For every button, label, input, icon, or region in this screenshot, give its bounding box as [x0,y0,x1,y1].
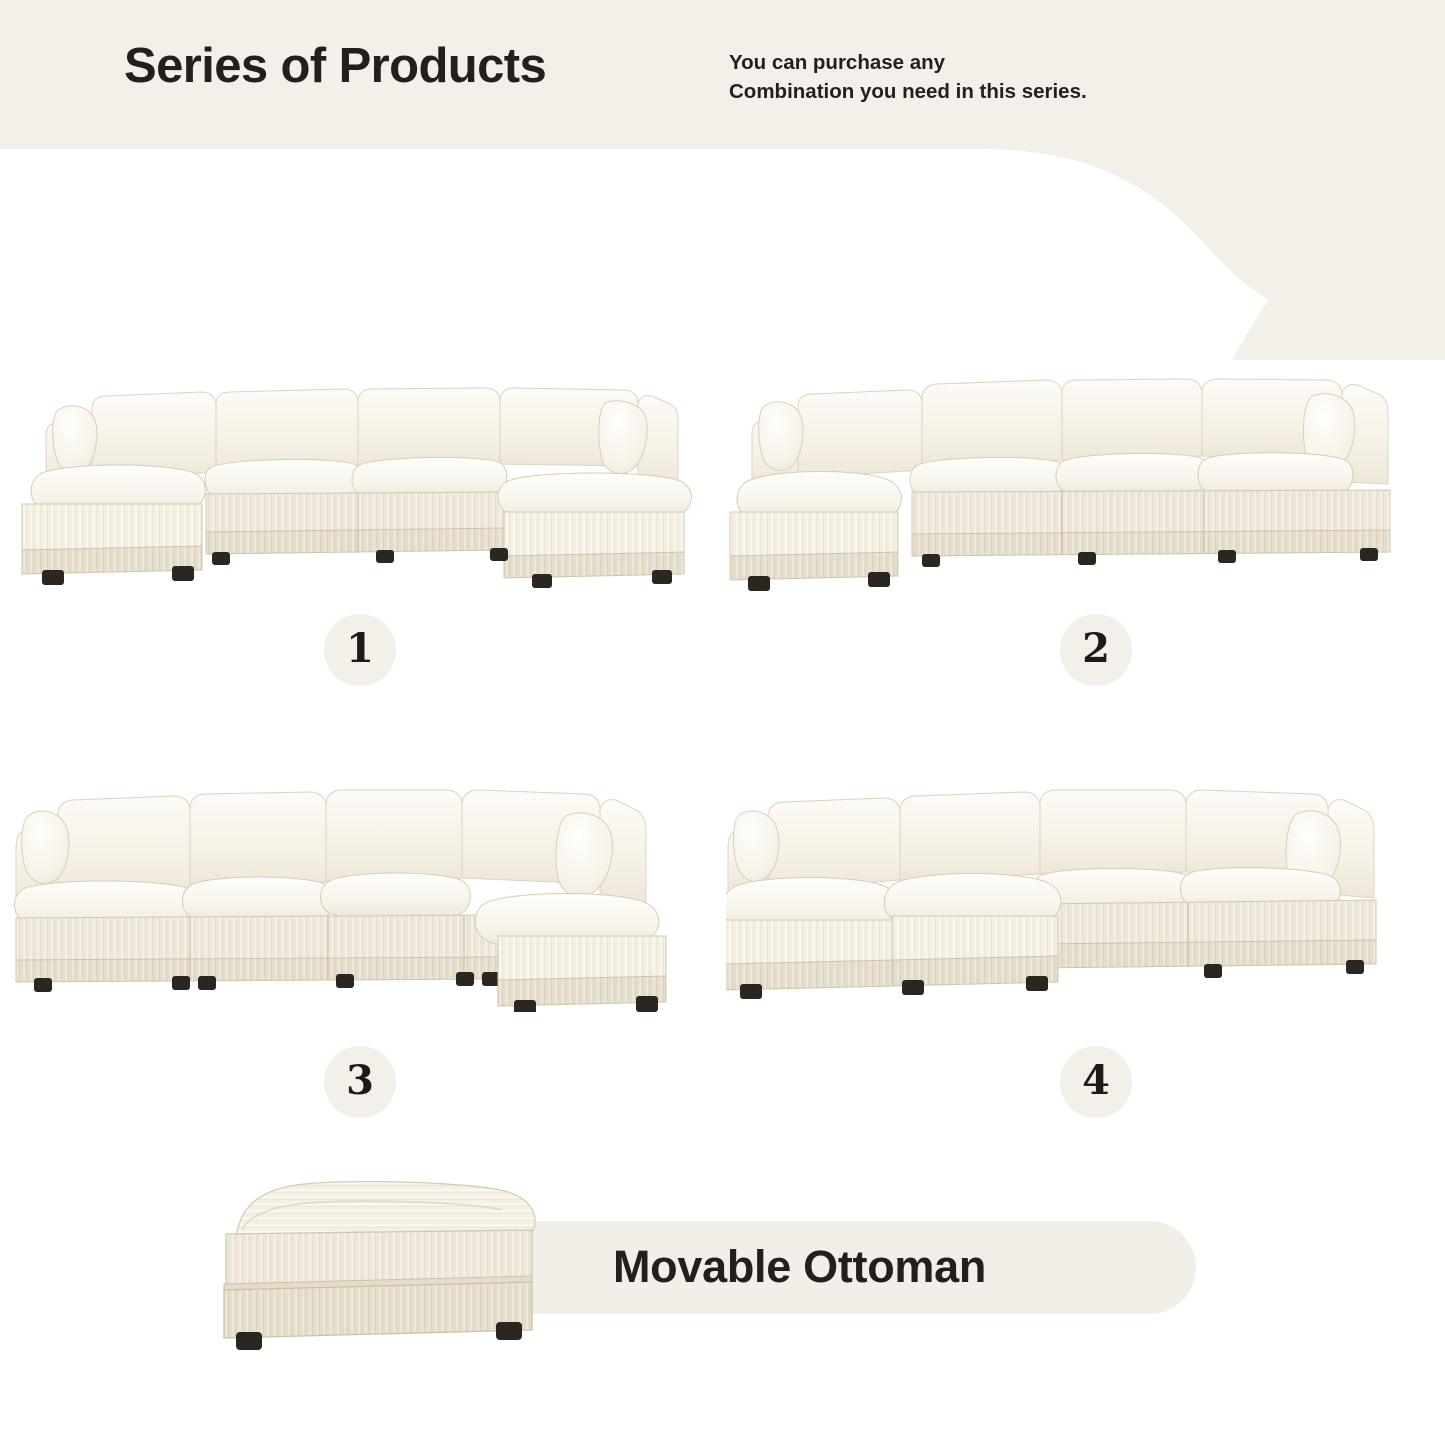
ottoman-base-lower [224,1282,532,1338]
ottoman-foot-right [496,1322,522,1340]
cfg1-ottoman-right [498,473,691,588]
cfg2-bases [912,490,1390,556]
infographic-page: Series of Products You can purchase any … [0,0,1445,1445]
cfg2-ottoman-left [730,472,901,592]
cfg3-ottoman-right [475,894,666,1013]
configuration-badge-2[interactable]: 2 [1060,614,1132,686]
cfg4-ottoman-center [884,874,1061,996]
movable-ottoman-illustration[interactable] [208,1172,558,1352]
configuration-4-illustration[interactable] [726,772,1426,1012]
configuration-3-illustration[interactable] [6,772,706,1012]
configuration-badge-1[interactable]: 1 [324,614,396,686]
cfg3-throw-pillow-left [22,811,69,884]
movable-ottoman-label: Movable Ottoman [613,1226,1173,1308]
subtitle-line-2: Combination you need in this series. [729,77,1087,106]
cfg2-throw-pillow-left [759,402,803,471]
cfg4-bases-right [1036,900,1376,968]
subtitle-line-1: You can purchase any [729,48,1087,77]
cfg1-bases [206,492,506,554]
configuration-badge-3[interactable]: 3 [324,1046,396,1118]
page-subtitle: You can purchase any Combination you nee… [729,48,1087,106]
header-text-group: Series of Products You can purchase any … [0,0,1445,150]
cfg1-ottoman-left [22,465,205,585]
configuration-1-illustration[interactable] [6,362,706,592]
cfg4-ottoman-left [726,878,899,1000]
page-title: Series of Products [124,38,546,94]
cfg1-throw-pillow-left [53,406,97,473]
cfg4-throw-pillow-left [734,811,779,882]
configuration-badge-4[interactable]: 4 [1060,1046,1132,1118]
configuration-2-illustration[interactable] [726,356,1436,596]
ottoman-foot-left [236,1332,262,1350]
